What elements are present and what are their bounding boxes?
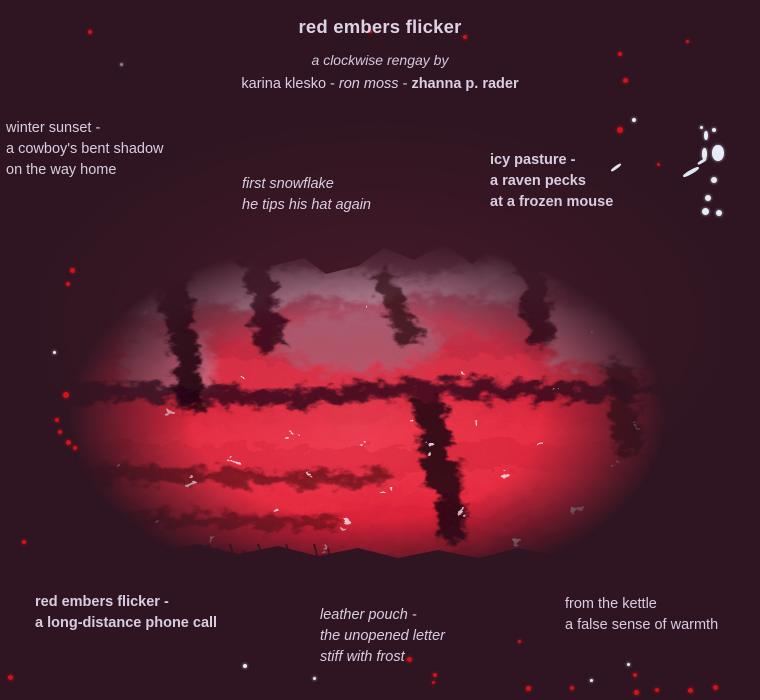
stanza-leather-pouch: leather pouch - the unopened letter stif… [320, 605, 445, 668]
splatter-dot [617, 127, 623, 133]
splatter-dot [655, 688, 659, 692]
ember-artwork-svg [58, 214, 676, 562]
page-title: red embers flicker [0, 16, 760, 38]
splatter-dot [313, 677, 316, 680]
splatter-dot [433, 673, 437, 677]
splatter-dot [63, 392, 69, 398]
splatter-dot [243, 664, 247, 668]
splatter-dot [627, 663, 630, 666]
splatter-dot [634, 690, 639, 695]
splatter-streak [697, 158, 707, 166]
poem-authors: karina klesko - ron moss - zhanna p. rad… [0, 76, 760, 92]
author-second: ron moss [339, 76, 399, 92]
ember-artwork [58, 214, 676, 562]
splatter-dot [590, 679, 593, 682]
splatter-dot [55, 418, 59, 422]
splatter-dot [632, 118, 636, 122]
splatter-dot [716, 210, 722, 216]
splatter-dot [518, 640, 521, 643]
splatter-dot [712, 128, 716, 132]
splatter-dot [704, 131, 708, 140]
splatter-dot [70, 268, 75, 273]
splatter-dot [713, 685, 718, 690]
splatter-dot [22, 540, 26, 544]
poem-subtitle: a clockwise rengay by [0, 52, 760, 68]
splatter-dot [633, 673, 637, 677]
stanza-first-snowflake: first snowflake he tips his hat again [242, 174, 371, 216]
splatter-dot [570, 686, 574, 690]
stanza-red-embers-flicker: red embers flicker - a long-distance pho… [35, 592, 217, 634]
splatter-dot [700, 126, 703, 129]
author-first: karina klesko [241, 76, 326, 92]
splatter-dot [688, 688, 693, 693]
splatter-dot [432, 681, 435, 684]
splatter-dot [705, 195, 711, 201]
splatter-dot [66, 282, 70, 286]
splatter-dot [8, 675, 13, 680]
author-third: zhanna p. rader [411, 76, 518, 92]
splatter-dot [66, 440, 71, 445]
splatter-dot [73, 446, 77, 450]
splatter-dot [53, 351, 56, 354]
author-separator: - [399, 76, 412, 92]
stanza-winter-sunset: winter sunset - a cowboy's bent shadow o… [6, 118, 164, 181]
poem-page: red embers flicker a clockwise rengay by… [0, 0, 760, 700]
splatter-dot [711, 177, 717, 183]
stanza-from-the-kettle: from the kettle a false sense of warmth [565, 594, 718, 636]
splatter-dot [58, 430, 62, 434]
splatter-streak [682, 166, 700, 178]
splatter-dot [657, 163, 660, 166]
stanza-icy-pasture: icy pasture - a raven pecks at a frozen … [490, 150, 613, 213]
splatter-dot [702, 208, 709, 215]
splatter-dot [686, 40, 689, 43]
author-separator: - [326, 76, 339, 92]
splatter-dot [526, 686, 531, 691]
splatter-dot [712, 145, 724, 161]
